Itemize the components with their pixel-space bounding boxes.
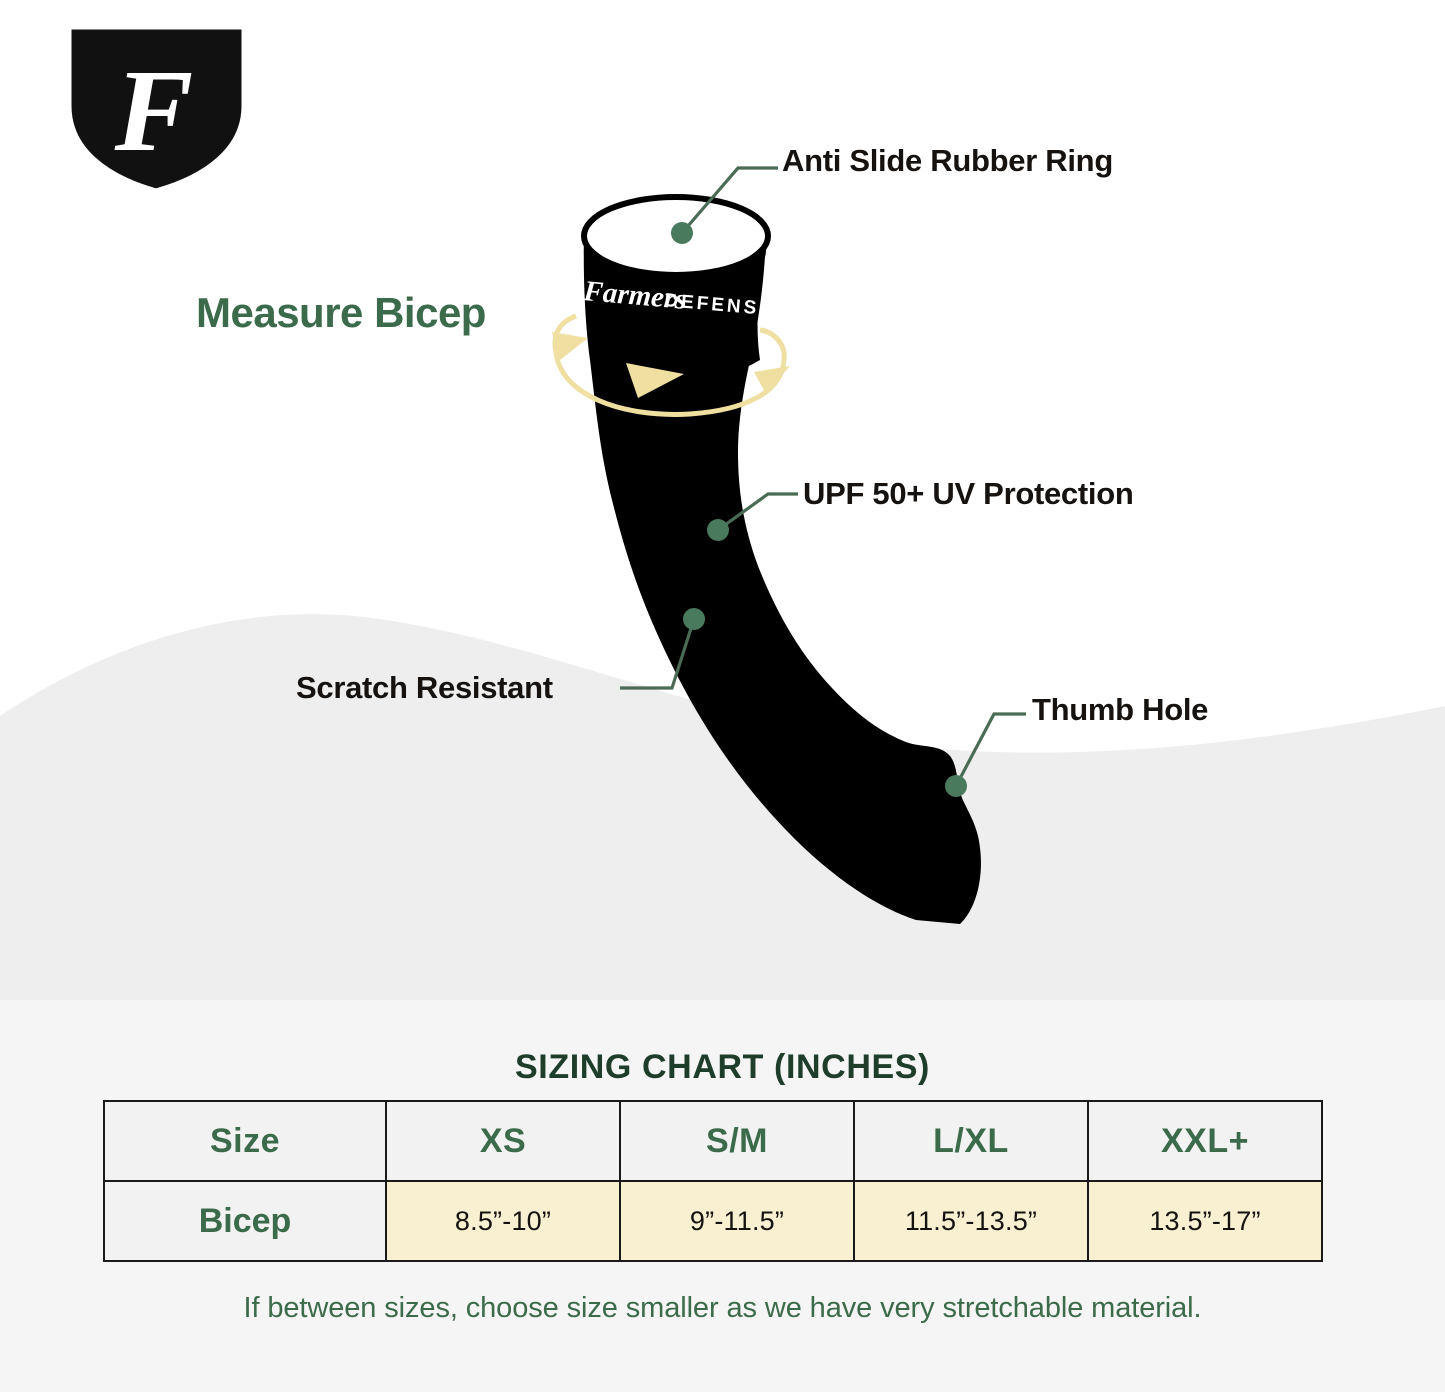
callout-label-thumb-hole: Thumb Hole bbox=[1032, 694, 1208, 725]
leader-upf bbox=[718, 494, 798, 530]
sizing-chart-table: Size XS S/M L/XL XXL+ Bicep 8.5”-10” 9”-… bbox=[103, 1100, 1323, 1262]
dot-thumb bbox=[945, 775, 967, 797]
shield-logo-icon: F bbox=[54, 18, 259, 198]
dot-scratch bbox=[683, 608, 705, 630]
header-cell-size: Size bbox=[104, 1101, 386, 1181]
measure-bicep-label: Measure Bicep bbox=[196, 292, 486, 334]
measure-arrow bbox=[555, 316, 784, 414]
table-header-row: Size XS S/M L/XL XXL+ bbox=[104, 1101, 1322, 1181]
header-cell-sm: S/M bbox=[620, 1101, 854, 1181]
cell-bicep-xxl: 13.5”-17” bbox=[1088, 1181, 1322, 1261]
sleeve-opening bbox=[584, 197, 768, 275]
cell-bicep-xs: 8.5”-10” bbox=[386, 1181, 620, 1261]
dot-anti-slide bbox=[671, 222, 693, 244]
header-cell-xxl: XXL+ bbox=[1088, 1101, 1322, 1181]
row-label-bicep: Bicep bbox=[104, 1181, 386, 1261]
sleeve-silhouette bbox=[584, 196, 981, 924]
leader-scratch bbox=[620, 619, 694, 688]
sleeve-brand-text: Farmers DEFENSE bbox=[581, 275, 775, 321]
logo-letter: F bbox=[114, 45, 194, 176]
header-cell-lxl: L/XL bbox=[854, 1101, 1088, 1181]
leader-anti-slide bbox=[682, 168, 778, 233]
cell-bicep-lxl: 11.5”-13.5” bbox=[854, 1181, 1088, 1261]
table-row: Bicep 8.5”-10” 9”-11.5” 11.5”-13.5” 13.5… bbox=[104, 1181, 1322, 1261]
measure-arrowheads bbox=[552, 332, 790, 398]
dot-upf bbox=[707, 519, 729, 541]
cell-bicep-sm: 9”-11.5” bbox=[620, 1181, 854, 1261]
sizing-chart-note: If between sizes, choose size smaller as… bbox=[0, 1292, 1445, 1325]
callout-label-scratch-resistant: Scratch Resistant bbox=[296, 672, 553, 703]
svg-text:Farmers: Farmers bbox=[581, 275, 688, 316]
header-cell-xs: XS bbox=[386, 1101, 620, 1181]
callout-label-upf-protection: UPF 50+ UV Protection bbox=[803, 478, 1133, 509]
callout-label-anti-slide-rubber-ring: Anti Slide Rubber Ring bbox=[782, 145, 1113, 176]
sizing-chart-title: SIZING CHART (INCHES) bbox=[0, 1048, 1445, 1087]
svg-text:DEFENSE: DEFENSE bbox=[664, 290, 776, 321]
leader-thumb bbox=[956, 714, 1026, 786]
sizing-infographic-page: F Farmers DEFENSE bbox=[0, 0, 1445, 1392]
